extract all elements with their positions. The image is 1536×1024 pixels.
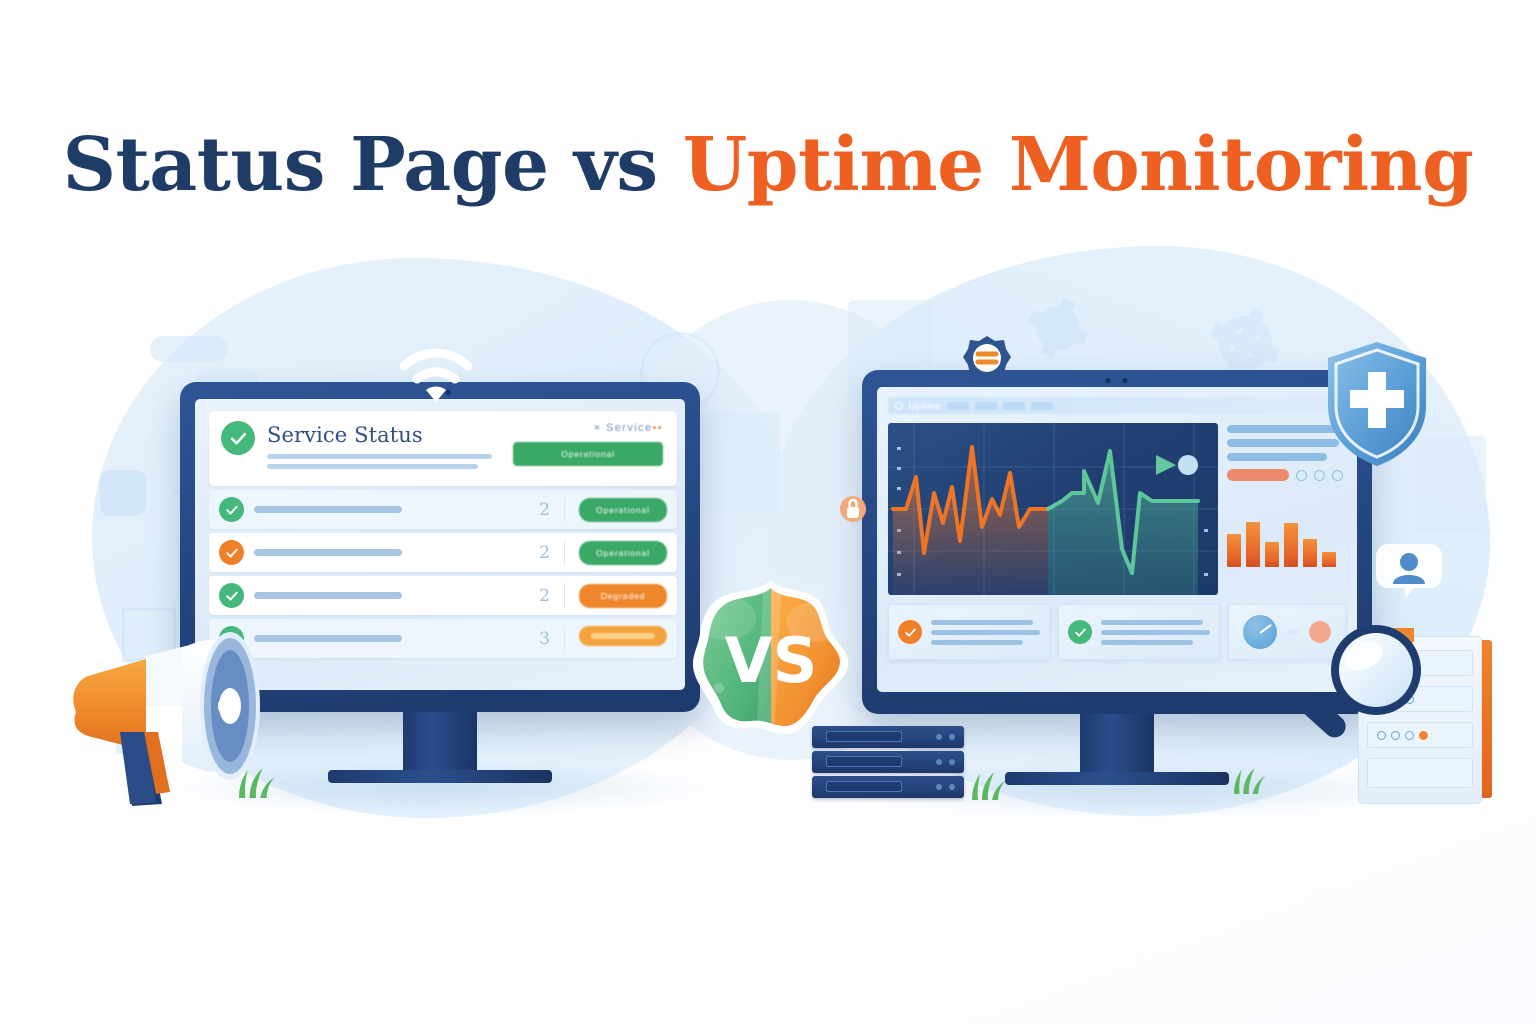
status-badge: Operational xyxy=(579,498,667,522)
page-title-orange: Uptime Monitoring xyxy=(683,122,1474,208)
service-status-title: Service Status xyxy=(267,423,501,447)
table-row[interactable]: 2 Operational xyxy=(209,533,677,572)
side-bar-chart xyxy=(1227,495,1346,567)
row-badge-wrap: Operational xyxy=(579,541,667,565)
gauge-icon xyxy=(1243,615,1277,649)
server-unit xyxy=(812,751,964,773)
topbar-segment xyxy=(1031,402,1053,410)
row-divider xyxy=(564,583,565,608)
page-title-navy: Status Page vs xyxy=(63,122,683,208)
row-label-placeholder xyxy=(254,506,402,513)
row-divider xyxy=(564,497,565,522)
row-divider xyxy=(564,540,565,565)
status-ring-icon xyxy=(1314,470,1325,481)
vs-badge-text: VS xyxy=(725,624,818,697)
uptime-line-chart[interactable] xyxy=(888,423,1218,595)
row-value: 2 xyxy=(539,543,550,563)
brand-prefix: × xyxy=(594,422,602,434)
bg-cloud-icon xyxy=(150,336,228,362)
incident-card[interactable] xyxy=(888,604,1050,660)
monitor-stand-base xyxy=(328,770,552,783)
check-circle-icon xyxy=(221,421,255,455)
record-dot-icon xyxy=(895,402,903,410)
check-circle-icon xyxy=(219,540,244,565)
row-value: 3 xyxy=(539,629,550,649)
dashboard-body: Uptime xyxy=(877,387,1357,692)
table-row[interactable]: 2 Operational xyxy=(209,490,677,529)
status-ring-icon xyxy=(1296,470,1307,481)
monitor-stand-neck xyxy=(1080,714,1154,776)
row-badge-wrap xyxy=(579,626,667,651)
gear-badge-icon xyxy=(962,334,1012,384)
service-status-header: Service Status × Service•• Operational xyxy=(209,411,677,486)
status-badge: Operational xyxy=(513,442,663,466)
brand-accent: •• xyxy=(652,422,663,434)
card-text-lines xyxy=(931,620,1040,645)
bg-doc-icon xyxy=(700,412,780,512)
rack-unit[interactable] xyxy=(1367,758,1473,788)
monitor-stand-base xyxy=(1005,772,1229,785)
row-badge-wrap: Degraded xyxy=(579,584,667,608)
alert-chip xyxy=(1227,469,1289,481)
vs-badge: VS xyxy=(686,576,856,742)
dashboard-title: Uptime xyxy=(909,401,941,411)
check-circle-icon xyxy=(1068,620,1092,644)
user-chip-icon xyxy=(1376,540,1442,598)
row-label-placeholder xyxy=(254,549,402,556)
side-panel-line xyxy=(1227,453,1327,461)
healthy-card[interactable] xyxy=(1058,604,1220,660)
brand-text: Service xyxy=(606,422,652,434)
row-value: 2 xyxy=(539,586,550,606)
grass-tuft xyxy=(1228,766,1268,794)
table-row[interactable]: 2 Degraded xyxy=(209,576,677,615)
service-brand-label: × Service•• xyxy=(513,422,663,434)
status-ring-icon xyxy=(1332,470,1343,481)
row-badge-wrap: Operational xyxy=(579,498,667,522)
check-circle-icon xyxy=(898,620,922,644)
grass-tuft xyxy=(966,770,1008,800)
dashboard-status-cards xyxy=(888,604,1346,660)
page-title: Status Page vs Uptime Monitoring xyxy=(0,122,1536,208)
status-badge: Degraded xyxy=(579,584,667,608)
check-circle-icon xyxy=(219,497,244,522)
wifi-icon xyxy=(396,336,476,402)
server-unit xyxy=(812,776,964,798)
topbar-segment xyxy=(975,402,997,410)
uptime-dashboard-screen: Uptime xyxy=(877,387,1357,692)
side-panel-alert-row xyxy=(1227,469,1346,481)
megaphone-icon xyxy=(58,620,358,820)
topbar-segment xyxy=(1003,402,1025,410)
row-label-placeholder xyxy=(254,592,402,599)
row-divider xyxy=(564,626,565,651)
card-text-lines xyxy=(1101,620,1210,645)
shield-cross-icon xyxy=(1322,340,1432,470)
bg-gear-icon xyxy=(1036,306,1080,350)
illustration-canvas: Status Page vs Uptime Monitoring xyxy=(0,0,1536,1024)
topbar-segment xyxy=(947,402,969,410)
bg-puzzle-icon xyxy=(100,470,146,516)
dashboard-topbar: Uptime xyxy=(888,397,1346,414)
bg-gear-icon xyxy=(1218,316,1272,370)
status-badge-progress xyxy=(579,626,667,646)
status-badge: Operational xyxy=(579,541,667,565)
lock-chip-icon xyxy=(840,492,866,526)
magnifying-glass-icon xyxy=(1286,612,1436,762)
row-value: 2 xyxy=(539,500,550,520)
check-circle-icon xyxy=(219,583,244,608)
monitor-stand-neck xyxy=(403,712,477,774)
dashboard-main xyxy=(888,423,1346,595)
